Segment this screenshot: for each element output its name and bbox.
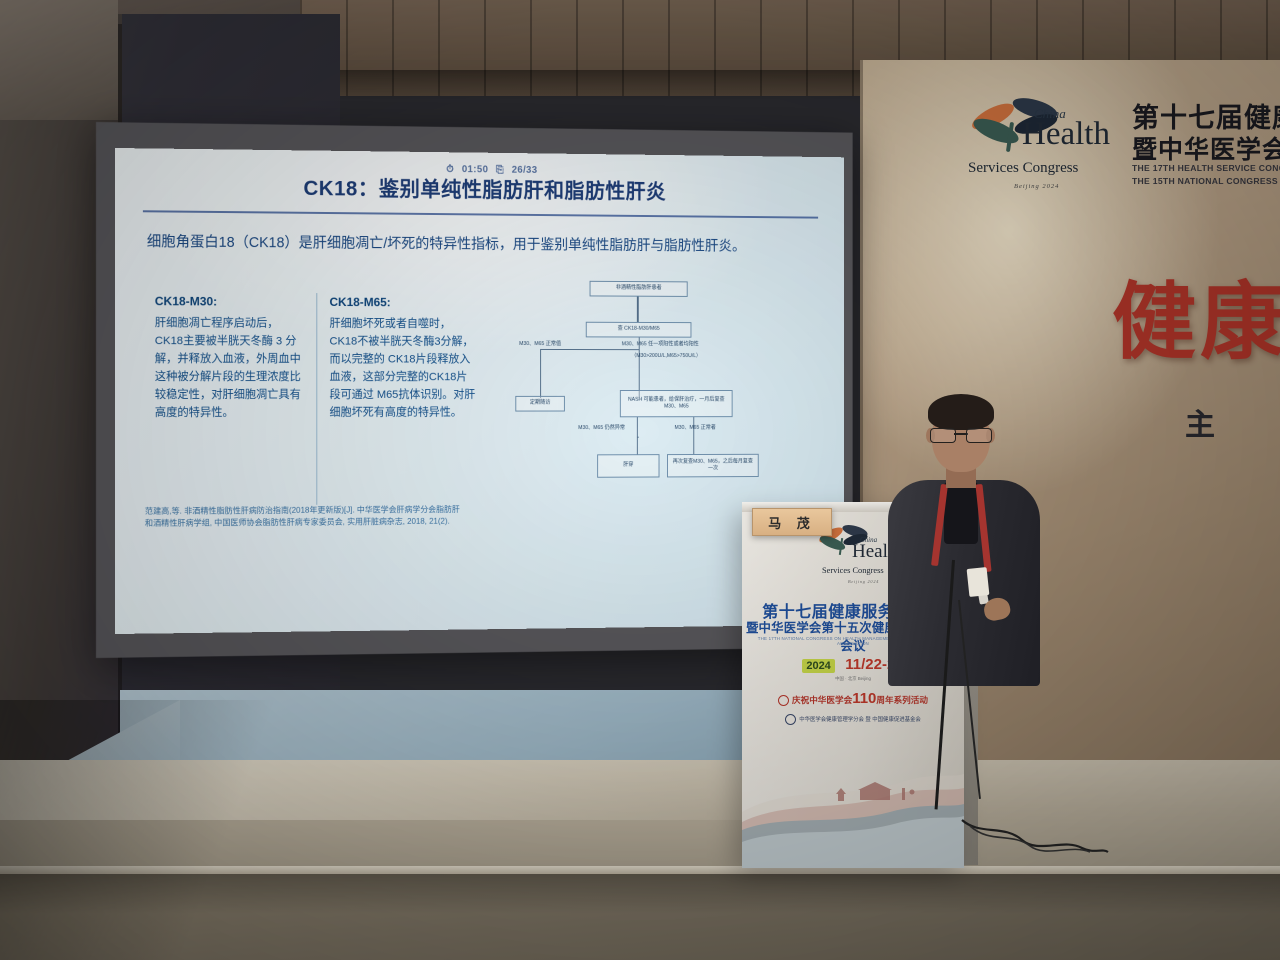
column-m30: CK18-M30: 肝细胞凋亡程序启动后，CK18主要被半胱天冬酶 3 分解，并… (145, 288, 313, 510)
speaker-badge (967, 567, 990, 597)
podium-date-year: 2024 (802, 659, 834, 673)
slide-citation: 范建高,等. 非酒精性脂肪性肝病防治指南(2018年更新版)[J]. 中华医学会… (145, 504, 468, 529)
left-shadow-gradient (0, 700, 300, 960)
backdrop-sub-text: 主 (1185, 400, 1215, 444)
flow-node-6: 再次复查M30、M65，之后每月复查一次 (667, 454, 759, 478)
conference-stage-photo: CK18：鉴别单纯性脂肪肝和脂肪性肝炎 ⏱ 01:50 ⎘ 26/33 细胞角蛋… (0, 0, 1280, 960)
speaker-hair (928, 394, 994, 430)
flow-label-abnormal: M30、M65 仍然异常 (578, 423, 625, 431)
wave-skyline-svg (742, 760, 964, 868)
backdrop-big-red-text: 健康 (1112, 255, 1280, 376)
column-m65: CK18-M65: 肝细胞坏死或者自噬时，CK18不被半胱天冬酶3分解，而以完整… (320, 289, 485, 509)
logo-city-text: Beijing 2024 (1014, 183, 1059, 190)
flow-label-positive: M30、M65 任一项阳性或者均阳性 (622, 339, 699, 347)
congress-logo: China Health Services Congress Beijing 2… (962, 88, 1122, 206)
slide-subtitle: 细胞角蛋白18（CK18）是肝细胞凋亡/坏死的特异性指标，用于鉴别单纯性脂肪肝与… (147, 232, 818, 259)
clinical-flowchart: 非酒精性脂肪肝患者 查 CK18-M30/M65 M30、M65 正常值 M30… (498, 280, 811, 494)
eyeglasses-icon (930, 428, 992, 441)
anniversary-number: 110 (852, 690, 876, 707)
flow-node-1: 非酒精性脂肪肝患者 (590, 281, 688, 297)
podium-logo-city: Beijing 2024 (848, 579, 879, 584)
flow-label-normal: M30、M65 正常值 (519, 339, 561, 347)
backdrop-cn-line2: 暨中华医学会第 (1132, 130, 1280, 166)
anniversary-suffix: 周年系列活动 (876, 695, 928, 705)
flow-label-threshold: （M30>200U/L,M65>750U/L） (631, 351, 701, 359)
podium-logo-services: Services Congress (822, 566, 884, 575)
presentation-timer-overlay: ⏱ 01:50 ⎘ 26/33 (446, 164, 537, 176)
backdrop-en-line2: THE 15TH NATIONAL CONGRESS ON HEAL (1132, 176, 1280, 186)
flow-line-2-left (540, 349, 639, 350)
anniversary-seal-icon (778, 695, 789, 706)
slide-counter: 26/33 (512, 165, 538, 176)
flow-line-1-2 (637, 297, 639, 322)
flow-node-3: 定期随访 (515, 396, 565, 412)
anniversary-prefix: 庆祝中华医学会 (792, 695, 852, 705)
title-underline (143, 210, 818, 218)
logo-services-text: Services Congress (968, 160, 1078, 177)
floor-cables (960, 818, 1110, 858)
anniversary-badge: 庆祝中华医学会110周年系列活动 (742, 690, 964, 707)
organizer-text: 中华医学会健康管理学分会 暨 中国健康促进基金会 (799, 717, 921, 723)
speaker-shirt (944, 482, 978, 544)
podium-organizers: 中华医学会健康管理学分会 暨 中国健康促进基金会 (742, 714, 964, 725)
speaker-figure (880, 392, 1055, 692)
podium-wave-graphic (742, 760, 964, 868)
column-m30-body: 肝细胞凋亡程序启动后，CK18主要被半胱天冬酶 3 分解，并释放入血液，外周血中… (155, 314, 305, 422)
logo-health-text: Health (1022, 118, 1110, 151)
backdrop-en-line1: THE 17TH HEALTH SERVICE CONGRESS (1132, 163, 1280, 173)
column-divider (316, 293, 317, 505)
wall-corner-light (0, 0, 118, 120)
organizer-seal-icon (785, 714, 796, 725)
flow-line-left-down (540, 349, 541, 398)
flow-node-5: 肝穿 (597, 454, 659, 478)
slides-icon: ⎘ (496, 165, 504, 176)
flow-node-2: 查 CK18-M30/M65 (586, 322, 692, 338)
slide-title: CK18：鉴别单纯性脂肪肝和脂肪性肝炎 (115, 170, 844, 207)
column-m65-body: 肝细胞坏死或者自噬时，CK18不被半胱天冬酶3分解，而以完整的 CK18片段释放… (329, 315, 477, 422)
flow-node-4: NASH 可能患者，给保肝治疗，一月后复查 M30、M65 (620, 390, 733, 417)
flow-line-to-5 (637, 437, 638, 455)
column-m65-heading: CK18-M65: (329, 293, 477, 313)
clock-icon: ⏱ (446, 164, 454, 175)
presentation-slide[interactable]: CK18：鉴别单纯性脂肪肝和脂肪性肝炎 ⏱ 01:50 ⎘ 26/33 细胞角蛋… (115, 148, 844, 634)
slide-columns: CK18-M30: 肝细胞凋亡程序启动后，CK18主要被半胱天冬酶 3 分解，并… (145, 288, 485, 510)
column-m30-heading: CK18-M30: (155, 292, 305, 312)
timer-elapsed: 01:50 (462, 164, 488, 175)
flow-line-4-left (637, 417, 638, 436)
name-placard: 马 茂 (752, 508, 832, 536)
flow-label-normalized: M30、M65 正常者 (675, 423, 716, 431)
